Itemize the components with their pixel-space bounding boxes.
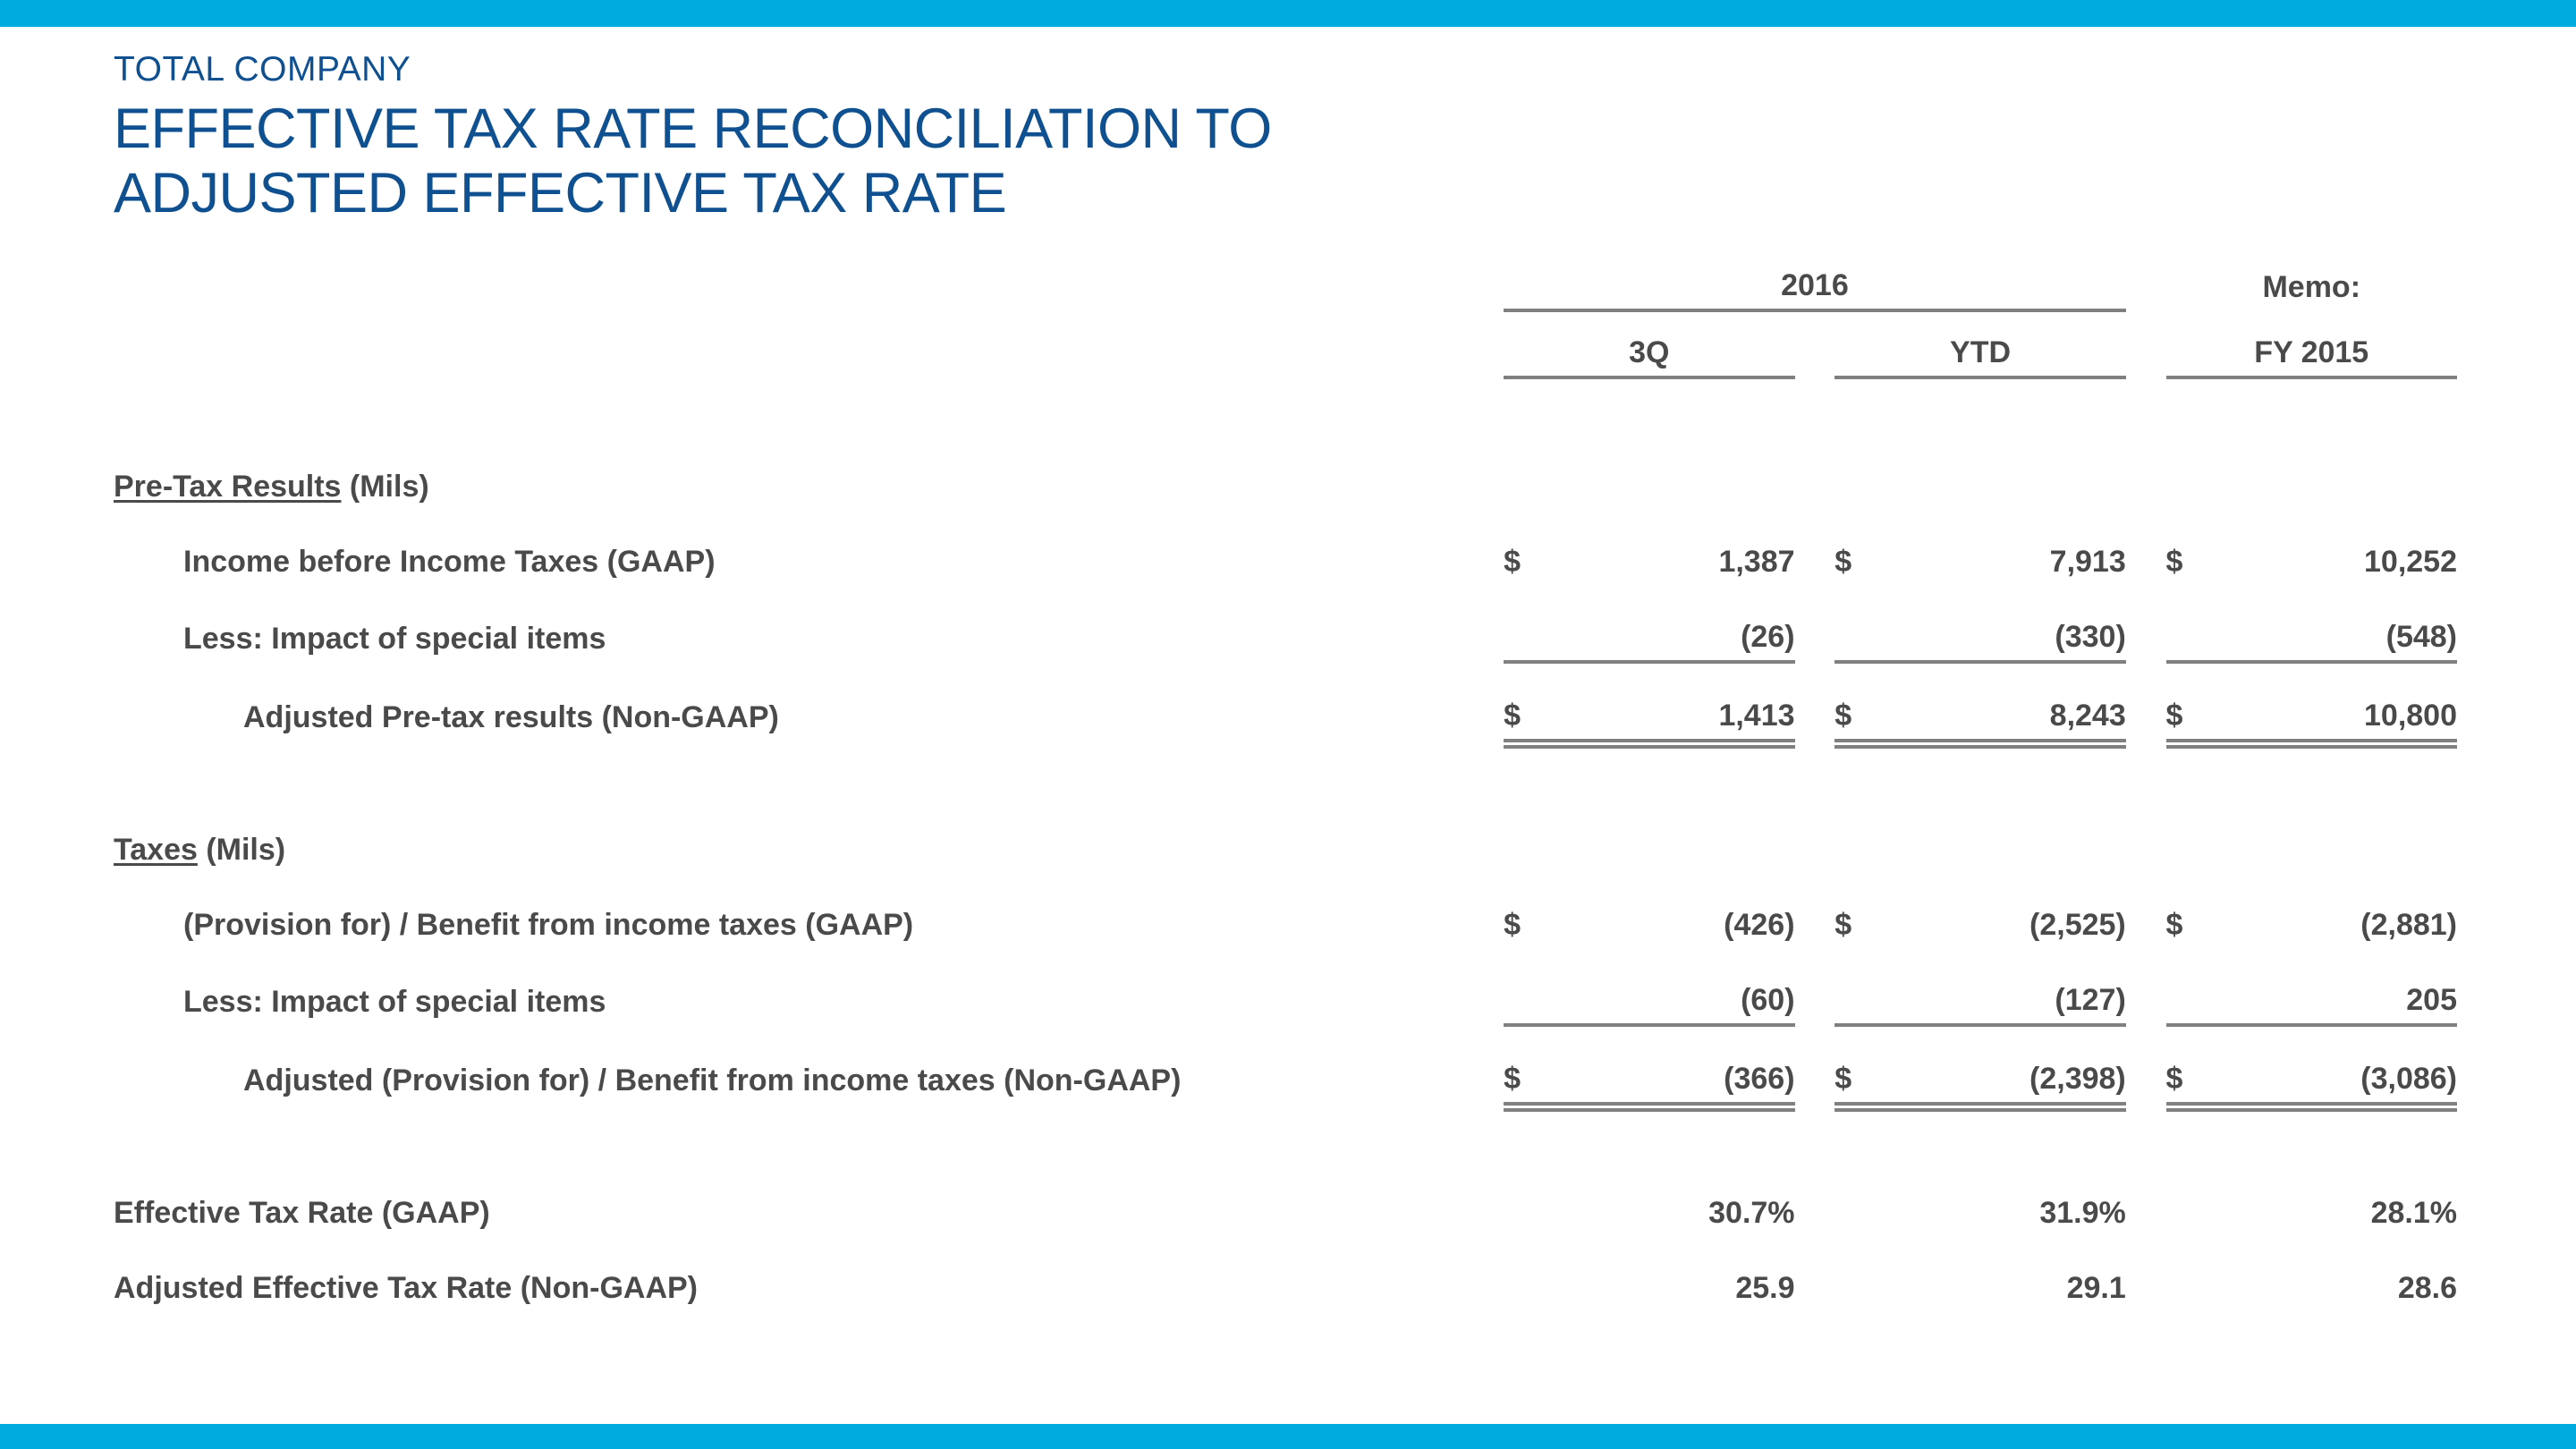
spacer-cell <box>2166 741 2457 798</box>
section-heading: Pre-Tax Results (Mils) <box>114 435 1504 510</box>
column-gap <box>2126 873 2166 948</box>
cell-q3: 25.9 <box>1504 1236 1794 1311</box>
cell-ytd: $8,243 <box>1835 662 2125 741</box>
cell-value: 8,243 <box>1870 699 2125 733</box>
column-gap <box>2126 585 2166 662</box>
column-gap <box>1795 948 1835 1025</box>
spacer-cell <box>2166 1104 2457 1161</box>
header-corner-spacer <box>114 268 1504 310</box>
empty-cell <box>1504 798 1794 873</box>
spacer-cell <box>1835 310 2125 335</box>
table-row: Less: Impact of special items(60)(127)20… <box>114 948 2457 1025</box>
section-gap-row <box>114 741 2457 798</box>
currency-symbol: $ <box>2166 699 2186 733</box>
section-gap-row <box>114 377 2457 435</box>
cell-q3: $(426) <box>1504 873 1794 948</box>
top-accent-band <box>0 0 2576 27</box>
spacer-cell <box>2126 1104 2166 1161</box>
spacer-cell <box>114 741 1504 798</box>
spacer-cell <box>1835 1104 2125 1161</box>
column-gap <box>2126 1025 2166 1104</box>
empty-cell <box>1795 435 1835 510</box>
cell-inner: $(2,525) <box>1835 908 2125 943</box>
table-header-group-row: 2016Memo: <box>114 268 2457 310</box>
currency-symbol: $ <box>2166 545 2186 580</box>
table-row: Less: Impact of special items(26)(330)(5… <box>114 585 2457 662</box>
currency-symbol: $ <box>1835 699 1870 733</box>
cell-inner: 205 <box>2166 983 2457 1018</box>
cell-inner: $(2,398) <box>1835 1062 2125 1097</box>
cell-inner: $10,800 <box>2166 699 2457 733</box>
header-spacer-row <box>114 310 2457 335</box>
column-header-fy2015: FY 2015 <box>2166 335 2457 377</box>
cell-fy2015: 28.1% <box>2166 1161 2457 1236</box>
cell-fy2015: 205 <box>2166 948 2457 1025</box>
section-heading-underlined: Pre-Tax Results <box>114 470 341 504</box>
cell-q3: $1,413 <box>1504 662 1794 741</box>
cell-fy2015: $10,252 <box>2166 510 2457 585</box>
spacer-cell <box>1795 1104 1835 1161</box>
row-label: Less: Impact of special items <box>114 585 1504 662</box>
column-gap <box>2126 510 2166 585</box>
currency-symbol: $ <box>1504 545 1539 580</box>
column-gap <box>1795 1161 1835 1236</box>
column-gap <box>2126 1236 2166 1311</box>
cell-value: 205 <box>2202 983 2457 1018</box>
currency-symbol: $ <box>1504 699 1539 733</box>
cell-ytd: 31.9% <box>1835 1161 2125 1236</box>
spacer-cell <box>114 377 1504 435</box>
column-gap <box>2126 948 2166 1025</box>
table-row: Income before Income Taxes (GAAP)$1,387$… <box>114 510 2457 585</box>
cell-value: (26) <box>1539 620 1794 655</box>
spacer-cell <box>2166 310 2457 335</box>
cell-inner: $(2,881) <box>2166 908 2457 943</box>
row-label: Less: Impact of special items <box>114 948 1504 1025</box>
row-label: (Provision for) / Benefit from income ta… <box>114 873 1504 948</box>
column-header-ytd: YTD <box>1835 335 2125 377</box>
cell-inner: (60) <box>1504 983 1794 1018</box>
cell-value: 1,413 <box>1539 699 1794 733</box>
cell-inner: $(366) <box>1504 1062 1794 1097</box>
cell-inner: (330) <box>1835 620 2125 655</box>
cell-value: (60) <box>1539 983 1794 1018</box>
section-heading-plain: (Mils) <box>341 470 428 504</box>
cell-value: (127) <box>1870 983 2125 1018</box>
section-heading-row: Pre-Tax Results (Mils) <box>114 435 2457 510</box>
memo-header: Memo: <box>2166 268 2457 310</box>
empty-cell <box>1504 435 1794 510</box>
cell-inner: (548) <box>2166 620 2457 655</box>
cell-value: (548) <box>2202 620 2457 655</box>
cell-value: 1,387 <box>1539 545 1794 580</box>
empty-cell <box>2126 435 2166 510</box>
rate-section-gap-row <box>114 1104 2457 1161</box>
empty-cell <box>2126 798 2166 873</box>
eyebrow-label: TOTAL COMPANY <box>114 52 1902 87</box>
currency-symbol: $ <box>2166 908 2186 943</box>
cell-q3: $(366) <box>1504 1025 1794 1104</box>
cell-value: (426) <box>1539 908 1794 943</box>
cell-value: (2,525) <box>1854 908 2125 943</box>
currency-symbol: $ <box>1504 1062 1539 1097</box>
bottom-accent-band <box>0 1424 2576 1449</box>
cell-value: (2,398) <box>1854 1062 2125 1097</box>
column-gap <box>1795 585 1835 662</box>
column-gap <box>2126 335 2166 377</box>
page-title-line-2: ADJUSTED EFFECTIVE TAX RATE <box>114 162 1902 226</box>
spacer-cell <box>2126 741 2166 798</box>
column-header-q3: 3Q <box>1504 335 1794 377</box>
cell-ytd: (330) <box>1835 585 2125 662</box>
cell-inner: $7,913 <box>1835 545 2125 580</box>
column-gap <box>1795 1236 1835 1311</box>
column-gap <box>1795 510 1835 585</box>
table-row: Effective Tax Rate (GAAP)30.7%31.9%28.1% <box>114 1161 2457 1236</box>
cell-q3: $1,387 <box>1504 510 1794 585</box>
table-row: Adjusted (Provision for) / Benefit from … <box>114 1025 2457 1104</box>
cell-ytd: 29.1 <box>1835 1236 2125 1311</box>
table-row: Adjusted Effective Tax Rate (Non-GAAP)25… <box>114 1236 2457 1311</box>
page-title: EFFECTIVE TAX RATE RECONCILIATION TO ADJ… <box>114 97 1902 226</box>
table-row: (Provision for) / Benefit from income ta… <box>114 873 2457 948</box>
spacer-cell <box>2126 310 2166 335</box>
spacer-cell <box>1504 1104 1794 1161</box>
spacer-cell <box>1504 377 1794 435</box>
cell-fy2015: $10,800 <box>2166 662 2457 741</box>
cell-value: 10,800 <box>2186 699 2457 733</box>
section-heading: Taxes (Mils) <box>114 798 1504 873</box>
slide-header: TOTAL COMPANY EFFECTIVE TAX RATE RECONCI… <box>114 52 1902 226</box>
cell-inner: $8,243 <box>1835 699 2125 733</box>
cell-value: (330) <box>1870 620 2125 655</box>
currency-symbol: $ <box>1835 545 1870 580</box>
table-header-column-row: 3QYTDFY 2015 <box>114 335 2457 377</box>
spacer-cell <box>1835 741 2125 798</box>
cell-ytd: $7,913 <box>1835 510 2125 585</box>
currency-symbol: $ <box>1504 908 1539 943</box>
column-gap <box>1795 662 1835 741</box>
row-label: Adjusted Pre-tax results (Non-GAAP) <box>114 662 1504 741</box>
cell-inner: $1,413 <box>1504 699 1794 733</box>
cell-value: 10,252 <box>2186 545 2457 580</box>
spacer-cell <box>1504 741 1794 798</box>
cell-inner: (26) <box>1504 620 1794 655</box>
currency-symbol: $ <box>2166 1062 2186 1097</box>
reconciliation-table-wrapper: 2016Memo:3QYTDFY 2015Pre-Tax Results (Mi… <box>114 268 2457 1311</box>
row-label: Adjusted (Provision for) / Benefit from … <box>114 1025 1504 1104</box>
cell-value: (2,881) <box>2186 908 2457 943</box>
cell-value: 7,913 <box>1870 545 2125 580</box>
empty-cell <box>2166 798 2457 873</box>
table-row: Adjusted Pre-tax results (Non-GAAP)$1,41… <box>114 662 2457 741</box>
cell-q3: (26) <box>1504 585 1794 662</box>
cell-fy2015: $(2,881) <box>2166 873 2457 948</box>
header-corner-spacer <box>114 335 1504 377</box>
cell-ytd: $(2,398) <box>1835 1025 2125 1104</box>
cell-inner: (127) <box>1835 983 2125 1018</box>
row-label: Adjusted Effective Tax Rate (Non-GAAP) <box>114 1236 1504 1311</box>
reconciliation-table: 2016Memo:3QYTDFY 2015Pre-Tax Results (Mi… <box>114 268 2457 1311</box>
currency-symbol: $ <box>1835 908 1854 943</box>
row-label: Effective Tax Rate (GAAP) <box>114 1161 1504 1236</box>
cell-q3: 30.7% <box>1504 1161 1794 1236</box>
spacer-cell <box>2126 377 2166 435</box>
empty-cell <box>1795 798 1835 873</box>
section-heading-plain: (Mils) <box>198 833 285 867</box>
column-gap <box>2126 268 2166 310</box>
column-gap <box>1795 873 1835 948</box>
row-label: Income before Income Taxes (GAAP) <box>114 510 1504 585</box>
cell-q3: (60) <box>1504 948 1794 1025</box>
column-gap <box>1795 1025 1835 1104</box>
section-heading-underlined: Taxes <box>114 833 198 867</box>
empty-cell <box>2166 435 2457 510</box>
page-title-line-1: EFFECTIVE TAX RATE RECONCILIATION TO <box>114 97 1902 162</box>
spacer-cell <box>1795 741 1835 798</box>
spacer-cell <box>1795 310 1835 335</box>
spacer-cell <box>2166 377 2457 435</box>
currency-symbol: $ <box>1835 1062 1854 1097</box>
cell-value: (3,086) <box>2186 1062 2457 1097</box>
spacer-cell <box>1504 310 1794 335</box>
cell-fy2015: $(3,086) <box>2166 1025 2457 1104</box>
cell-fy2015: 28.6 <box>2166 1236 2457 1311</box>
column-gap <box>1795 335 1835 377</box>
column-gap <box>2126 1161 2166 1236</box>
cell-ytd: (127) <box>1835 948 2125 1025</box>
empty-cell <box>1835 435 2125 510</box>
cell-fy2015: (548) <box>2166 585 2457 662</box>
cell-inner: $1,387 <box>1504 545 1794 580</box>
cell-inner: $(3,086) <box>2166 1062 2457 1097</box>
spacer-cell <box>1795 377 1835 435</box>
group-header-2016: 2016 <box>1504 268 2126 310</box>
cell-value: (366) <box>1539 1062 1794 1097</box>
spacer-cell <box>1835 377 2125 435</box>
cell-inner: $(426) <box>1504 908 1794 943</box>
spacer-cell <box>114 310 1504 335</box>
spacer-cell <box>114 1104 1504 1161</box>
section-heading-row: Taxes (Mils) <box>114 798 2457 873</box>
cell-ytd: $(2,525) <box>1835 873 2125 948</box>
empty-cell <box>1835 798 2125 873</box>
cell-inner: $10,252 <box>2166 545 2457 580</box>
column-gap <box>2126 662 2166 741</box>
